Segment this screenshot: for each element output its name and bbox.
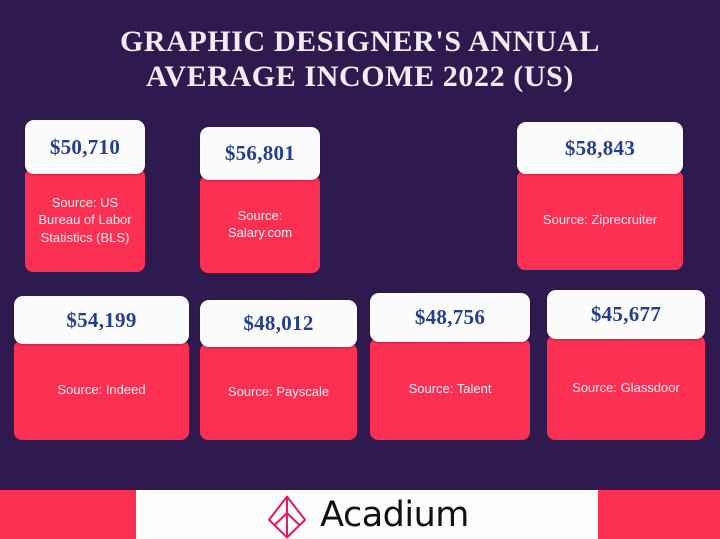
stat-card-header: $58,843 [517,122,683,174]
stat-card-body: Source: Glassdoor [547,335,705,440]
stat-card-body: Source: US Bureau of Labor Statistics (B… [25,168,145,272]
stat-card-body: Source: Indeed [14,340,189,440]
page-title-line-2: Average Income 2022 (US) [0,59,720,94]
stat-card-amount: $50,710 [50,135,120,160]
stat-card-header: $48,012 [200,300,357,347]
stat-card-header: $48,756 [370,293,530,342]
stat-card-source: Source: Salary.com [200,207,320,241]
stat-card-header: $45,677 [547,290,705,339]
stat-card-talent: Source: Talent $48,756 [370,293,530,440]
stat-card-amount: $54,199 [66,308,136,333]
stat-card-amount: $48,756 [415,305,485,330]
stat-card-source: Source: Indeed [51,381,151,398]
stat-card-indeed: Source: Indeed $54,199 [14,296,189,440]
stat-card-source: Source: Talent [403,380,498,397]
stat-card-header: $54,199 [14,296,189,344]
stat-card-header: $50,710 [25,120,145,174]
stat-card-source: Source: US Bureau of Labor Statistics (B… [25,194,145,245]
stat-card-ziprecruiter: Source: Ziprecruiter $58,843 [517,122,683,270]
stat-card-amount: $45,677 [591,302,661,327]
acadium-diamond-logo-icon [265,495,309,539]
stat-card-source: Source: Glassdoor [566,379,686,396]
page-title-line-1: Graphic Designer's Annual [0,24,720,59]
brand-wordmark: Acadium [320,498,469,533]
stat-card-payscale: Source: Payscale $48,012 [200,300,357,440]
stat-card-salary-com: Source: Salary.com $56,801 [200,127,320,273]
stat-card-body: Source: Payscale [200,343,357,440]
stat-card-header: $56,801 [200,127,320,180]
stat-card-body: Source: Salary.com [200,175,320,273]
stat-card-body: Source: Ziprecruiter [517,170,683,270]
stat-card-source: Source: Payscale [222,383,335,400]
stat-card-body: Source: Talent [370,338,530,440]
stat-card-glassdoor: Source: Glassdoor $45,677 [547,290,705,440]
footer-brand-panel: Acadium [136,490,598,539]
stat-card-source: Source: Ziprecruiter [537,211,663,228]
stat-card-amount: $48,012 [243,311,313,336]
stat-card-amount: $58,843 [565,136,635,161]
infographic-canvas: Graphic Designer's Annual Average Income… [0,0,720,539]
stat-card-amount: $56,801 [225,141,295,166]
stat-card-bls: Source: US Bureau of Labor Statistics (B… [25,120,145,272]
page-title: Graphic Designer's Annual Average Income… [0,24,720,95]
